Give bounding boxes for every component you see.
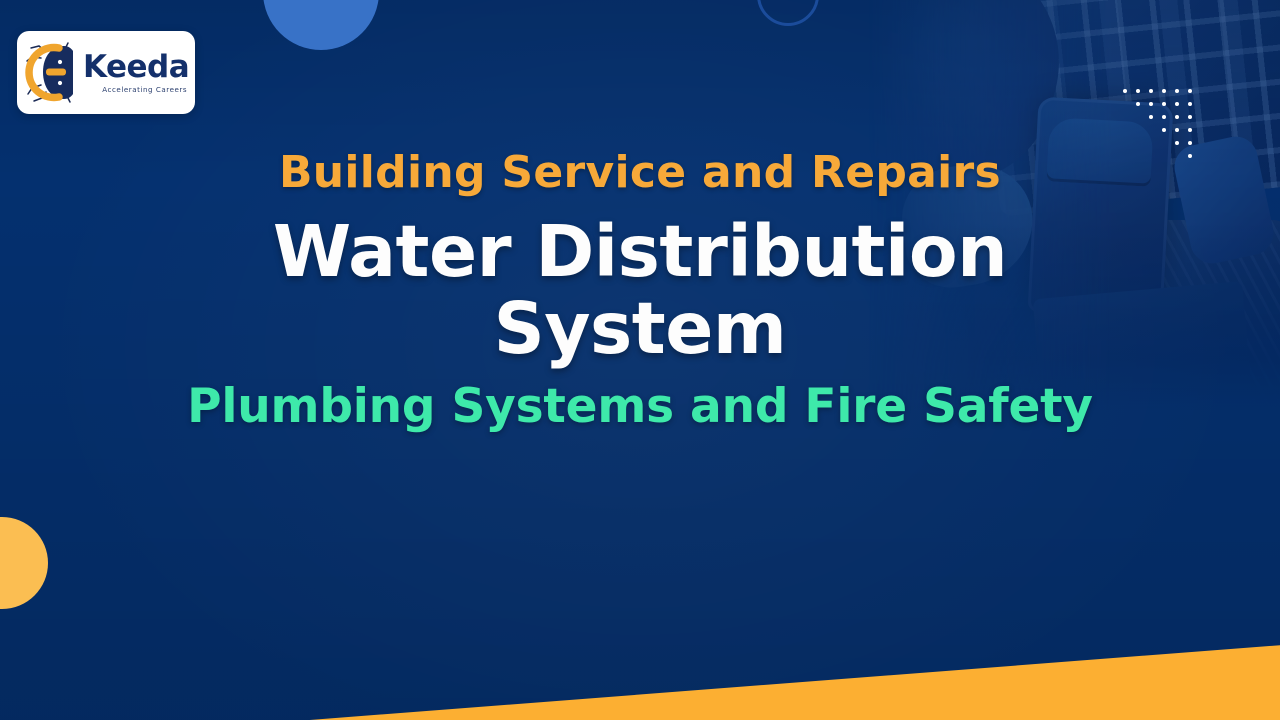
grid-dot — [1188, 89, 1192, 93]
grid-dot — [1136, 102, 1140, 106]
grid-dot — [1162, 115, 1166, 119]
grid-dot — [1149, 115, 1153, 119]
grid-dot — [1175, 141, 1179, 145]
grid-dot — [1175, 128, 1179, 132]
grid-dot — [1123, 89, 1127, 93]
course-series-title: Building Service and Repairs — [90, 150, 1190, 196]
grid-dot — [1149, 89, 1153, 93]
logo-wordmark: Keeda — [83, 49, 189, 85]
presentation-slide: Keeda Accelerating Careers Building Serv… — [0, 0, 1280, 720]
grid-dot — [1162, 89, 1166, 93]
logo-text: Keeda Accelerating Careers — [83, 52, 189, 93]
grid-dot — [1136, 89, 1140, 93]
grid-dot — [1162, 102, 1166, 106]
grid-dot — [1188, 115, 1192, 119]
slide-content: Building Service and Repairs Water Distr… — [0, 150, 1280, 431]
ekeeda-logo[interactable]: Keeda Accelerating Careers — [17, 31, 195, 114]
grid-dot — [1162, 128, 1166, 132]
logo-tagline: Accelerating Careers — [83, 86, 189, 93]
grid-dot — [1149, 102, 1153, 106]
grid-dot — [1188, 141, 1192, 145]
grid-dot — [1175, 89, 1179, 93]
grid-dot — [1175, 115, 1179, 119]
grid-dot — [1188, 128, 1192, 132]
slide-subtitle: Plumbing Systems and Fire Safety — [90, 382, 1190, 431]
slide-headline: Water Distribution System — [200, 214, 1080, 367]
grid-dot — [1175, 102, 1179, 106]
grid-dot — [1188, 102, 1192, 106]
